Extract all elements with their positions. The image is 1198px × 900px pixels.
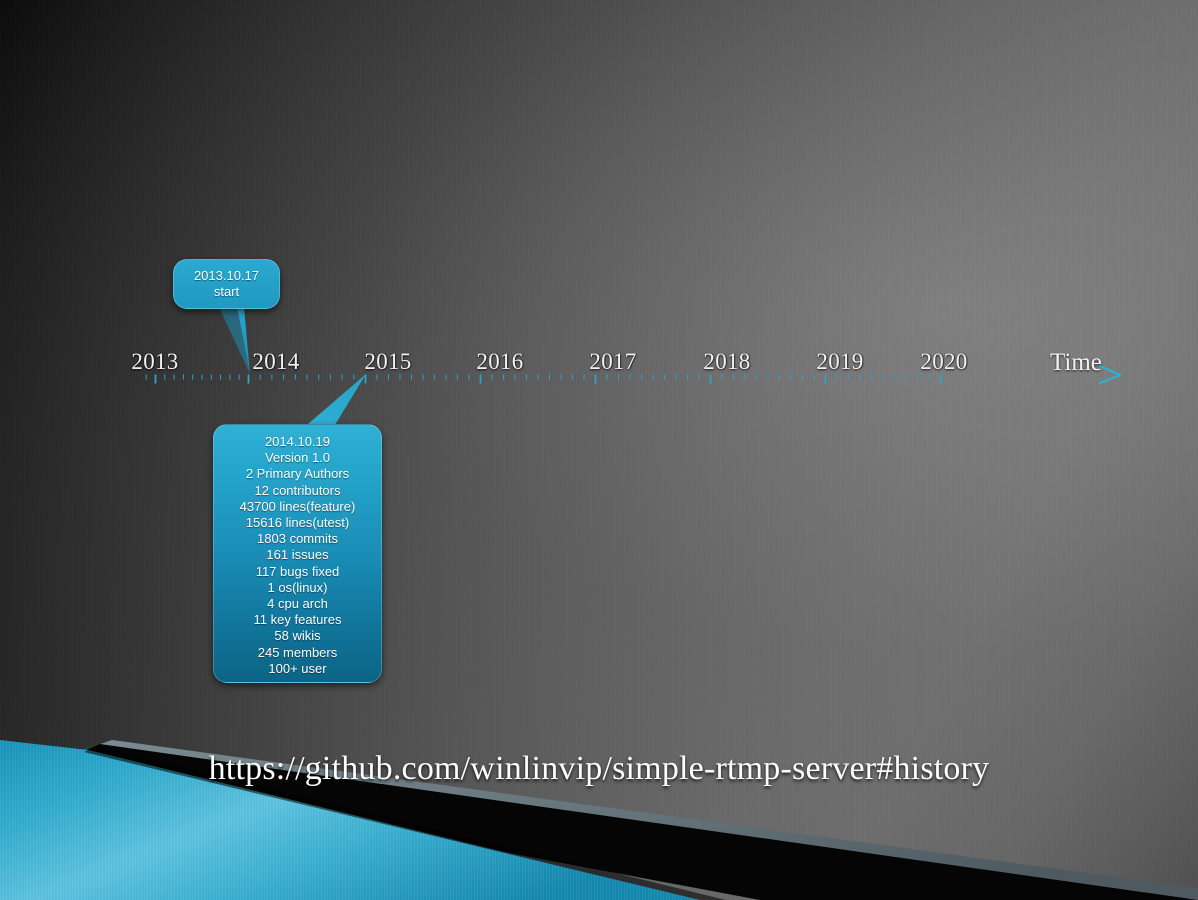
callout-start-line-0: 2013.10.17 bbox=[184, 268, 269, 284]
callout-version-1[interactable]: 2014.10.19 Version 1.0 2 Primary Authors… bbox=[213, 424, 382, 683]
callout-v1-line-6: 1803 commits bbox=[224, 531, 371, 547]
year-label-2013: 2013 bbox=[131, 350, 178, 373]
callout-v1-line-9: 1 os(linux) bbox=[224, 580, 371, 596]
year-label-2020: 2020 bbox=[920, 350, 967, 373]
year-label-2015: 2015 bbox=[364, 350, 411, 373]
year-label-2019: 2019 bbox=[816, 350, 863, 373]
callout-v1-line-8: 117 bugs fixed bbox=[224, 564, 371, 580]
year-label-2014: 2014 bbox=[252, 350, 299, 373]
callout-tail-start bbox=[219, 307, 250, 374]
callout-v1-line-12: 58 wikis bbox=[224, 628, 371, 644]
callout-tail-start-shade bbox=[219, 307, 250, 374]
callout-v1-line-4: 43700 lines(feature) bbox=[224, 499, 371, 515]
axis-caption-time: Time bbox=[1050, 350, 1102, 375]
callout-v1-line-10: 4 cpu arch bbox=[224, 596, 371, 612]
callout-v1-line-7: 161 issues bbox=[224, 547, 371, 563]
callout-v1-line-1: Version 1.0 bbox=[224, 450, 371, 466]
footer-url[interactable]: https://github.com/winlinvip/simple-rtmp… bbox=[0, 750, 1198, 788]
slide-canvas: 2013 2014 2015 2016 2017 2018 2019 2020 … bbox=[0, 0, 1198, 900]
callout-v1-line-11: 11 key features bbox=[224, 612, 371, 628]
callout-v1-line-3: 12 contributors bbox=[224, 483, 371, 499]
year-label-2018: 2018 bbox=[703, 350, 750, 373]
callout-start-line-1: start bbox=[184, 284, 269, 300]
year-label-2017: 2017 bbox=[589, 350, 636, 373]
callout-v1-line-14: 100+ user bbox=[224, 661, 371, 677]
callout-start[interactable]: 2013.10.17 start bbox=[173, 259, 280, 309]
axis-ticks bbox=[146, 375, 940, 384]
arrow-right-icon bbox=[1100, 366, 1120, 383]
callout-v1-line-5: 15616 lines(utest) bbox=[224, 515, 371, 531]
callout-v1-line-0: 2014.10.19 bbox=[224, 434, 371, 450]
callout-v1-line-13: 245 members bbox=[224, 645, 371, 661]
year-label-2016: 2016 bbox=[476, 350, 523, 373]
callout-v1-line-2: 2 Primary Authors bbox=[224, 466, 371, 482]
